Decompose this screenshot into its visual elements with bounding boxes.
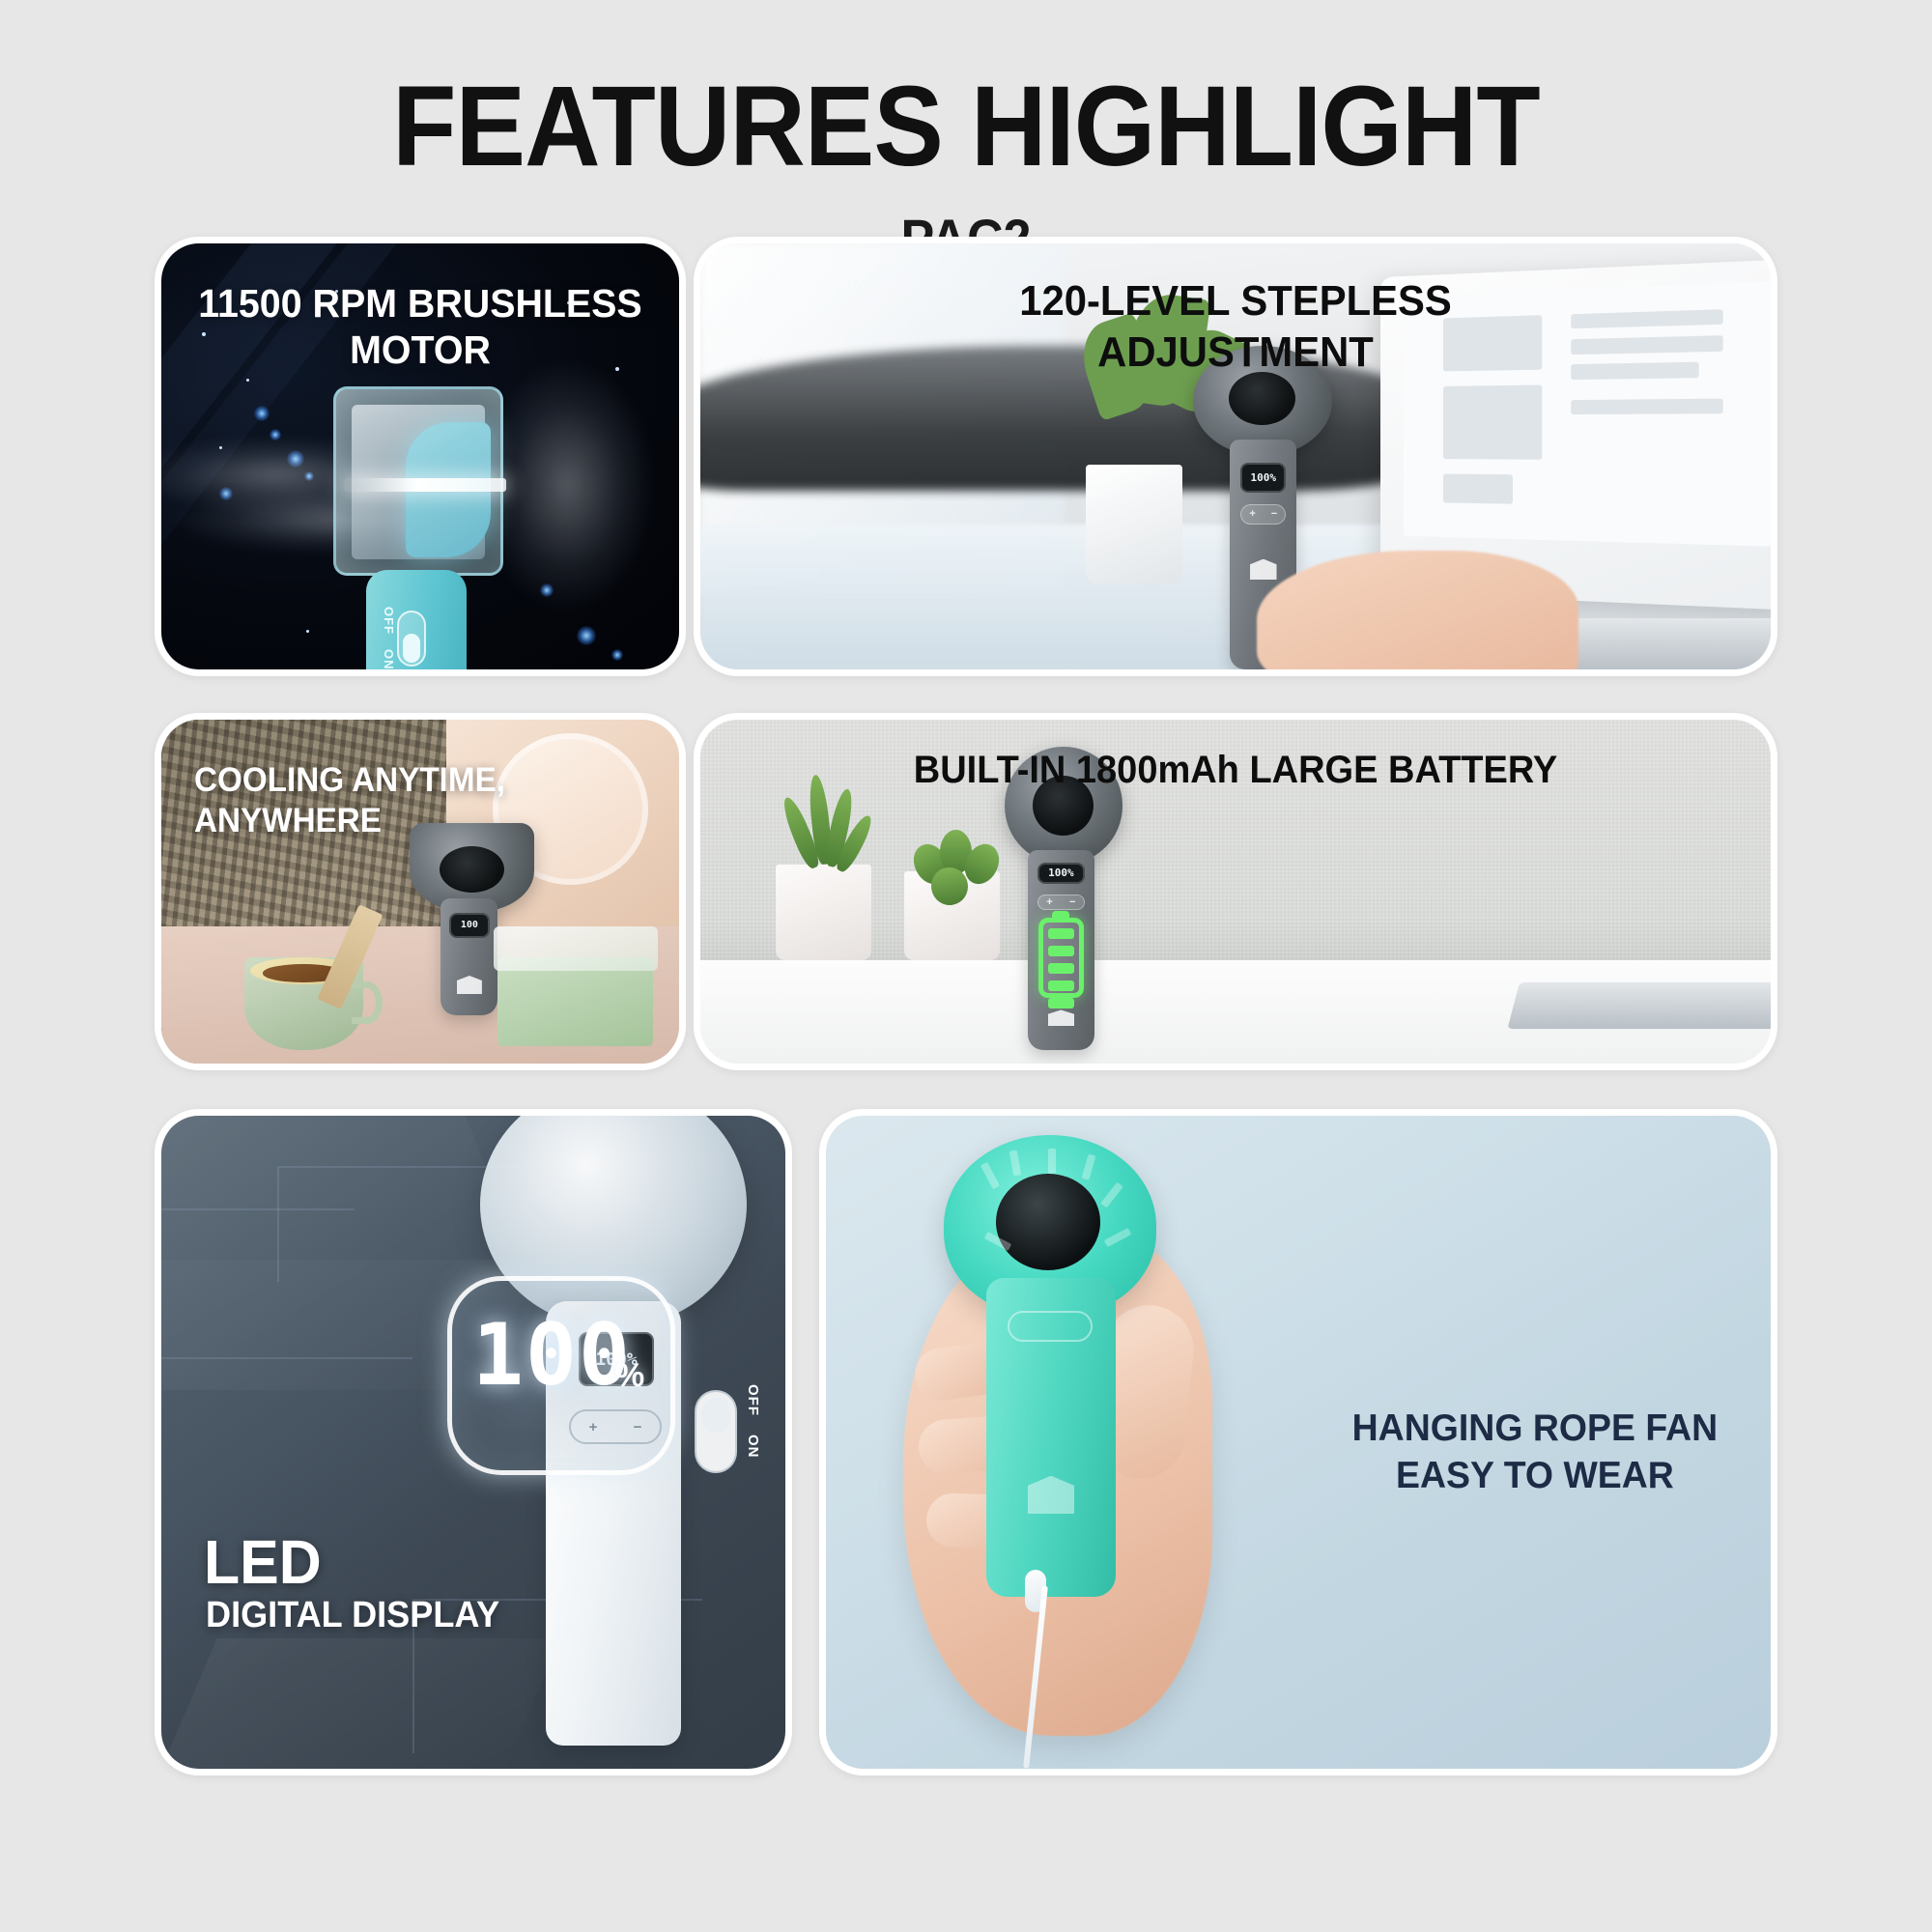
fan-head-gray bbox=[1005, 747, 1122, 864]
card3-art: 100 bbox=[161, 720, 679, 1064]
feature-card-cooling-anywhere[interactable]: 100 COOLING ANYTIME, ANYWHERE bbox=[155, 713, 686, 1070]
transparent-motor-housing bbox=[333, 386, 503, 576]
fan-speed-buttons bbox=[1008, 1311, 1093, 1342]
power-switch bbox=[397, 611, 426, 667]
feature-card-large-battery[interactable]: 100% +− BUILT-IN 1800mAh LARGE BATTERY bbox=[694, 713, 1777, 1070]
brand-logo bbox=[1048, 1009, 1074, 1026]
brand-logo bbox=[1028, 1476, 1074, 1515]
fan-handle-mint: OFF ON bbox=[366, 570, 467, 669]
card5-art: 100% +− OFF ON 100 % bbox=[161, 1116, 785, 1769]
switch-off-label: OFF bbox=[745, 1384, 761, 1416]
page-title: FEATURES HIGHLIGHT bbox=[77, 70, 1855, 184]
feature-card-led-display[interactable]: 100% +− OFF ON 100 % LED DIGITAL DISPLAY bbox=[155, 1109, 792, 1776]
feature-card-hanging-rope[interactable]: HANGING ROPE FAN EASY TO WEAR bbox=[819, 1109, 1777, 1776]
switch-off-label: OFF bbox=[382, 607, 396, 635]
fan-handle-mint bbox=[986, 1278, 1116, 1597]
switch-on-label: ON bbox=[382, 649, 396, 669]
plant-pot bbox=[1086, 465, 1182, 583]
card6-art bbox=[826, 1116, 1771, 1769]
card4-art: 100% +− bbox=[700, 720, 1771, 1064]
plant-pot-left bbox=[776, 865, 872, 961]
food-container bbox=[497, 957, 653, 1047]
fan-screen-value: 100% bbox=[1251, 471, 1277, 484]
battery-level-indicator bbox=[1038, 918, 1084, 998]
led-callout-unit: % bbox=[615, 1357, 644, 1395]
feature-card-brushless-motor[interactable]: OFF ON 11500 RPM BRUSHLESS MOTOR bbox=[155, 237, 686, 676]
brand-logo bbox=[457, 976, 482, 994]
fan-screen-value: 100% bbox=[1048, 867, 1074, 879]
brand-logo bbox=[1250, 559, 1276, 580]
card2-art: 100% +− bbox=[700, 243, 1771, 669]
fan-handle-gray: 100 bbox=[440, 898, 497, 1015]
feature-card-stepless-adjustment[interactable]: 100% +− 120-LEVEL STEPLESS ADJUSTMENT bbox=[694, 237, 1777, 676]
fan-speed-buttons: +− bbox=[1240, 504, 1286, 525]
fan-handle-gray: 100% +− bbox=[1028, 850, 1094, 1049]
page-header: FEATURES HIGHLIGHT PAC2 bbox=[0, 0, 1932, 270]
card1-art: OFF ON bbox=[161, 243, 679, 669]
power-switch bbox=[695, 1390, 737, 1473]
fan-speed-buttons: +− bbox=[1037, 895, 1085, 911]
switch-on-label: ON bbox=[745, 1435, 761, 1459]
fan-hub bbox=[996, 1174, 1100, 1270]
led-callout-value: 100 bbox=[472, 1305, 632, 1405]
